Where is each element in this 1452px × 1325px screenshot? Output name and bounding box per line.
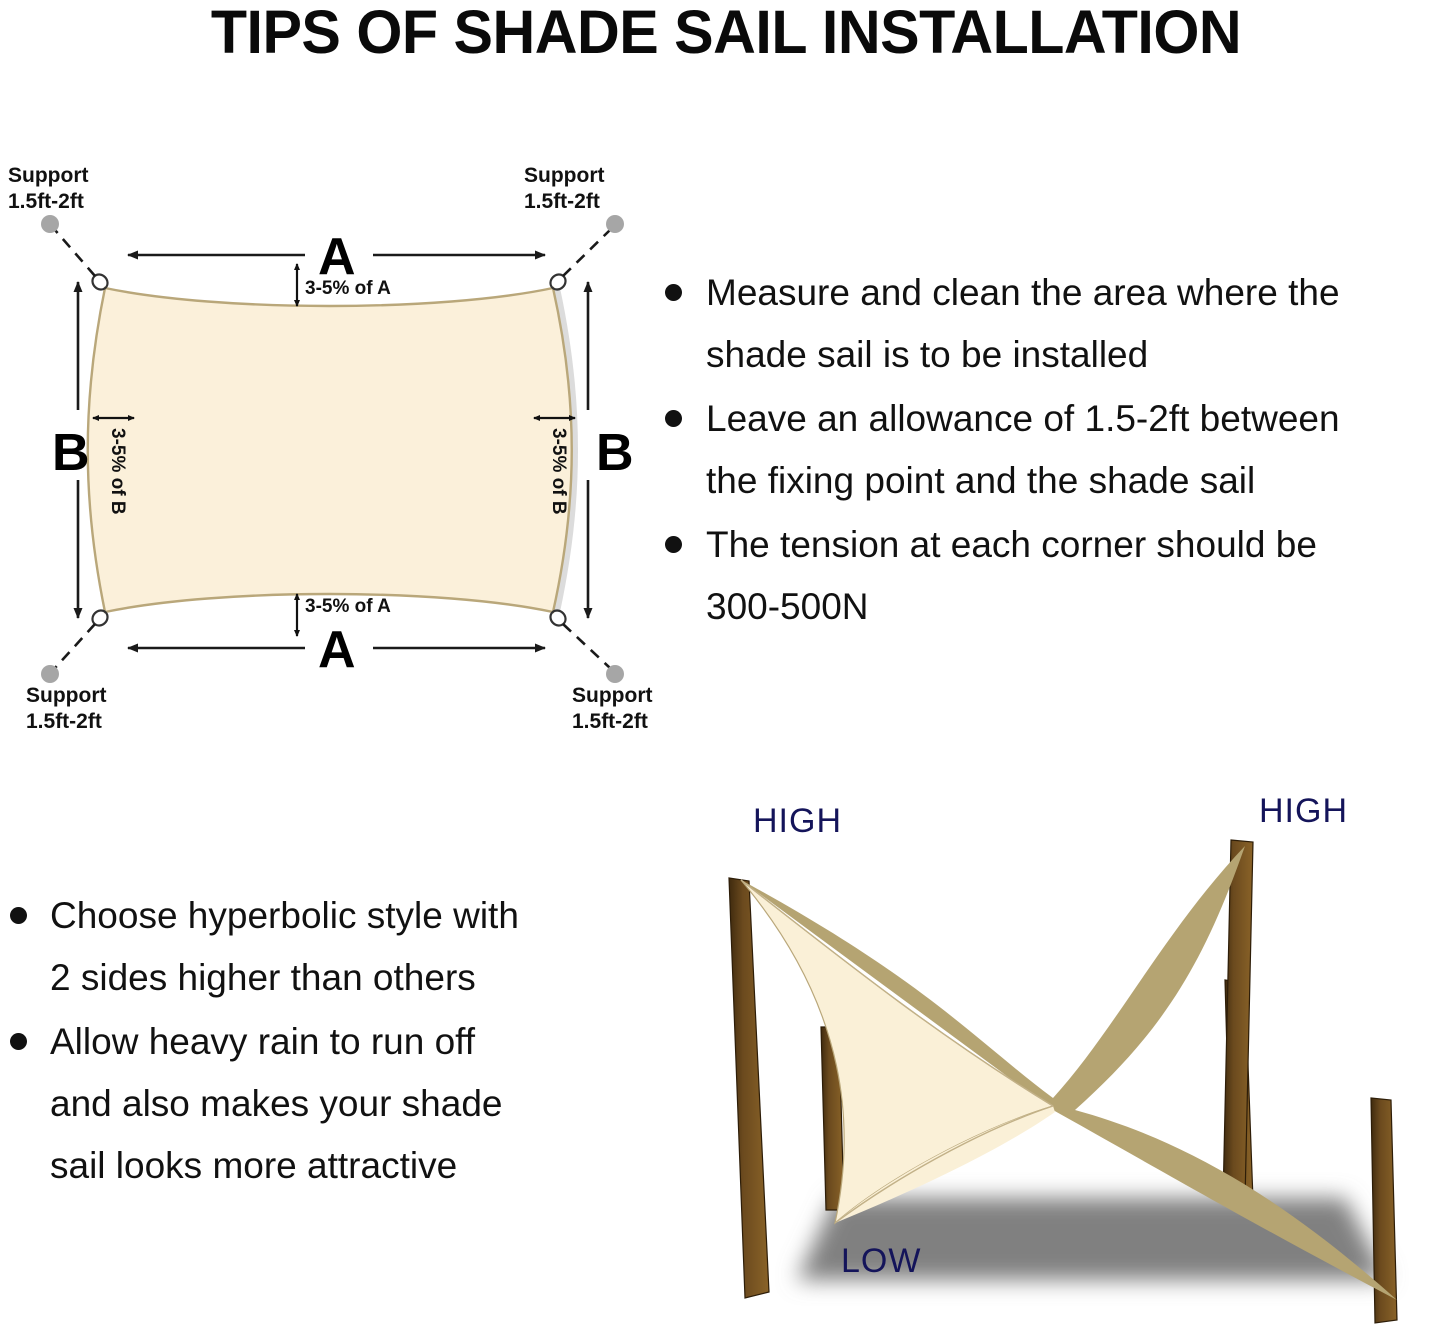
curve-depth-label-left: 3-5% of B: [107, 428, 128, 515]
sail-body: [88, 288, 572, 612]
bullet-icon: [10, 907, 27, 924]
dimension-height-right: B: [588, 282, 634, 618]
tip-line: and also makes your shade: [50, 1073, 630, 1135]
list-item: Allow heavy rain to run off and also mak…: [0, 1011, 630, 1197]
support-label-bottom-right: Support 1.5ft-2ft: [572, 684, 652, 733]
tip-line: 2 sides higher than others: [50, 947, 630, 1009]
support-label-bottom-left: Support 1.5ft-2ft: [26, 684, 106, 733]
support-label-line2: 1.5ft-2ft: [26, 710, 102, 733]
tips-bullet-list: Measure and clean the area where the sha…: [648, 262, 1452, 638]
bullet-icon: [665, 536, 682, 553]
tip-line: The tension at each corner should be: [706, 514, 1452, 576]
list-item: The tension at each corner should be 300…: [648, 514, 1452, 638]
tip-line: Choose hyperbolic style with: [50, 885, 630, 947]
dimension-label-B-right: B: [596, 424, 634, 482]
support-label-line2: 1.5ft-2ft: [524, 190, 600, 213]
tip-line: shade sail is to be installed: [706, 324, 1452, 386]
list-item: Measure and clean the area where the sha…: [648, 262, 1452, 386]
dimension-height-left: B: [52, 282, 90, 618]
installation-tips-list: Measure and clean the area where the sha…: [648, 262, 1452, 662]
curve-depth-label-top: 3-5% of A: [305, 278, 391, 299]
curve-depth-label-bottom: 3-5% of A: [305, 596, 391, 617]
tip-line: the fixing point and the shade sail: [706, 450, 1452, 512]
support-label-line1: Support: [572, 684, 652, 707]
dimension-label-A-bottom: A: [318, 621, 356, 679]
tip-line: Allow heavy rain to run off: [50, 1011, 630, 1073]
shade-sail-dimension-diagram: Support 1.5ft-2ft Support 1.5ft-2ft Supp…: [0, 160, 660, 740]
sail-surface-light: [741, 880, 1055, 1223]
curve-depth-label-right: 3-5% of B: [548, 428, 569, 515]
hyperbolic-tips-list: Choose hyperbolic style with 2 sides hig…: [0, 885, 630, 1245]
support-label-line1: Support: [8, 164, 88, 187]
hyperbolic-sail-3d-illustration: HIGH HIGH LOW LOW: [645, 780, 1452, 1325]
support-label-line2: 1.5ft-2ft: [572, 710, 648, 733]
label-high-left: HIGH: [753, 802, 842, 840]
bullet-icon: [10, 1033, 27, 1050]
tip-line: Measure and clean the area where the: [706, 262, 1452, 324]
bullet-icon: [665, 284, 682, 301]
support-label-top-left: Support 1.5ft-2ft: [8, 164, 88, 213]
dimension-label-B-left: B: [52, 424, 90, 482]
pole-high-left: [729, 878, 769, 1298]
support-label-top-right: Support 1.5ft-2ft: [524, 164, 604, 213]
support-label-line1: Support: [524, 164, 604, 187]
list-item: Leave an allowance of 1.5-2ft between th…: [648, 388, 1452, 512]
page-title: TIPS OF SHADE SAIL INSTALLATION: [22, 0, 1430, 66]
tip-line: 300-500N: [706, 576, 1452, 638]
label-low-left: LOW: [841, 1242, 921, 1280]
tip-line: Leave an allowance of 1.5-2ft between: [706, 388, 1452, 450]
list-item: Choose hyperbolic style with 2 sides hig…: [0, 885, 630, 1009]
dimension-width-bottom: A: [128, 621, 545, 679]
tip-line: sail looks more attractive: [50, 1135, 630, 1197]
label-high-right: HIGH: [1259, 792, 1348, 830]
hyperbolic-bullet-list: Choose hyperbolic style with 2 sides hig…: [0, 885, 630, 1197]
bullet-icon: [665, 410, 682, 427]
support-label-line2: 1.5ft-2ft: [8, 190, 84, 213]
support-label-line1: Support: [26, 684, 106, 707]
